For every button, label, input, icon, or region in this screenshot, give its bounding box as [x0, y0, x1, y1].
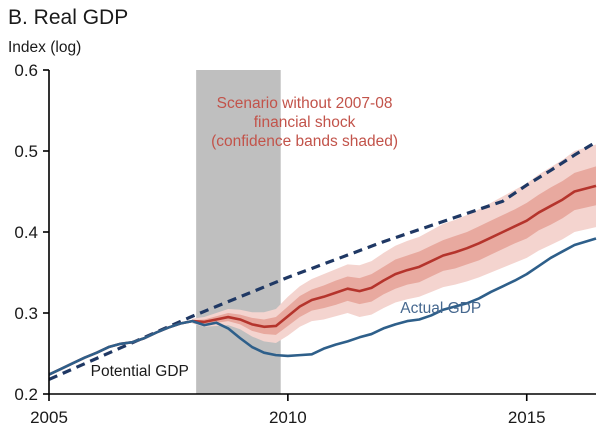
- annotation-line: Actual GDP: [400, 300, 481, 317]
- y-tick-label: 0.6: [14, 61, 38, 80]
- actual-gdp-annotation: Actual GDP: [400, 300, 481, 317]
- x-tick-label: 2010: [269, 408, 307, 427]
- y-axis-unit-label: Index (log): [8, 39, 81, 56]
- x-tick-label: 2015: [508, 408, 546, 427]
- annotation-line: Potential GDP: [91, 363, 189, 380]
- annotation-line: financial shock: [254, 114, 356, 131]
- page-title: B. Real GDP: [8, 6, 128, 29]
- y-tick-label: 0.2: [14, 385, 38, 404]
- real-gdp-chart: B. Real GDP Index (log) 0.20.30.40.50.62…: [0, 0, 600, 429]
- y-tick-label: 0.5: [14, 142, 38, 161]
- y-tick-label: 0.3: [14, 304, 38, 323]
- y-tick-label: 0.4: [14, 223, 38, 242]
- x-tick-label: 2005: [30, 408, 68, 427]
- potential-gdp-annotation: Potential GDP: [91, 363, 189, 380]
- annotation-line: (confidence bands shaded): [211, 133, 398, 150]
- annotation-line: Scenario without 2007-08: [217, 95, 393, 112]
